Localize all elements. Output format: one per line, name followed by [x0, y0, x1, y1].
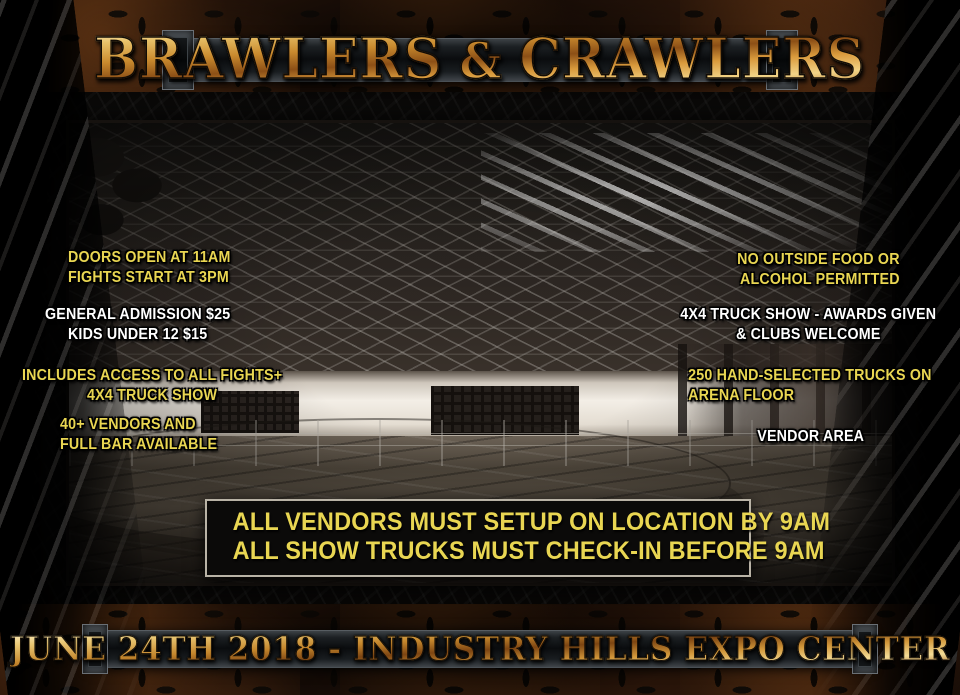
callout-line-vendors: ALL VENDORS MUST SETUP ON LOCATION BY 9A… — [233, 508, 724, 537]
info-line: FULL BAR AVAILABLE — [60, 435, 217, 455]
info-line: FIGHTS START AT 3PM — [68, 268, 231, 288]
info-line: 40+ VENDORS AND — [60, 415, 217, 435]
event-title-part1: BRAWLERS — [94, 26, 442, 92]
info-block-hours: DOORS OPEN AT 11AM FIGHTS START AT 3PM — [68, 248, 231, 289]
info-block-hand-selected-trucks: 250 HAND-SELECTED TRUCKS ON ARENA FLOOR — [689, 366, 932, 407]
info-line: 4X4 TRUCK SHOW — [22, 386, 282, 406]
event-title-part2: CRAWLERS — [520, 26, 866, 92]
info-line: VENDOR AREA — [757, 427, 864, 447]
info-line: KIDS UNDER 12 $15 — [45, 325, 230, 345]
title-banner: BRAWLERS & CRAWLERS — [168, 22, 792, 96]
date-venue-banner: JUNE 24TH 2018 - INDUSTRY HILLS EXPO CEN… — [88, 618, 872, 678]
info-line: GENERAL ADMISSION $25 — [45, 305, 230, 325]
info-line: ALCOHOL PERMITTED — [737, 270, 900, 290]
info-block-vendors-bar: 40+ VENDORS AND FULL BAR AVAILABLE — [60, 415, 217, 456]
info-line: & CLUBS WELCOME — [680, 325, 936, 345]
info-block-truck-show-awards: 4X4 TRUCK SHOW - AWARDS GIVEN & CLUBS WE… — [680, 305, 936, 346]
info-line: 4X4 TRUCK SHOW - AWARDS GIVEN — [680, 305, 936, 325]
info-block-includes: INCLUDES ACCESS TO ALL FIGHTS+ 4X4 TRUCK… — [22, 366, 282, 407]
info-line: 250 HAND-SELECTED TRUCKS ON — [689, 366, 932, 386]
date-venue-text: JUNE 24TH 2018 - INDUSTRY HILLS EXPO CEN… — [10, 629, 951, 668]
info-line: NO OUTSIDE FOOD OR — [737, 250, 900, 270]
info-block-pricing: GENERAL ADMISSION $25 KIDS UNDER 12 $15 — [45, 305, 230, 346]
info-block-no-outside-food: NO OUTSIDE FOOD OR ALCOHOL PERMITTED — [737, 250, 900, 291]
event-flyer-poster: BRAWLERS & CRAWLERS DOORS OPEN AT 11AM F… — [0, 0, 960, 695]
setup-callout-banner: ALL VENDORS MUST SETUP ON LOCATION BY 9A… — [205, 499, 751, 577]
event-title-ampersand: & — [443, 31, 520, 90]
event-title: BRAWLERS & CRAWLERS — [94, 26, 865, 92]
info-line: ARENA FLOOR — [689, 386, 932, 406]
info-line: INCLUDES ACCESS TO ALL FIGHTS+ — [22, 366, 282, 386]
info-block-vendor-area: VENDOR AREA — [757, 427, 864, 447]
info-line: DOORS OPEN AT 11AM — [68, 248, 231, 268]
callout-line-show-trucks: ALL SHOW TRUCKS MUST CHECK-IN BEFORE 9AM — [233, 537, 724, 566]
